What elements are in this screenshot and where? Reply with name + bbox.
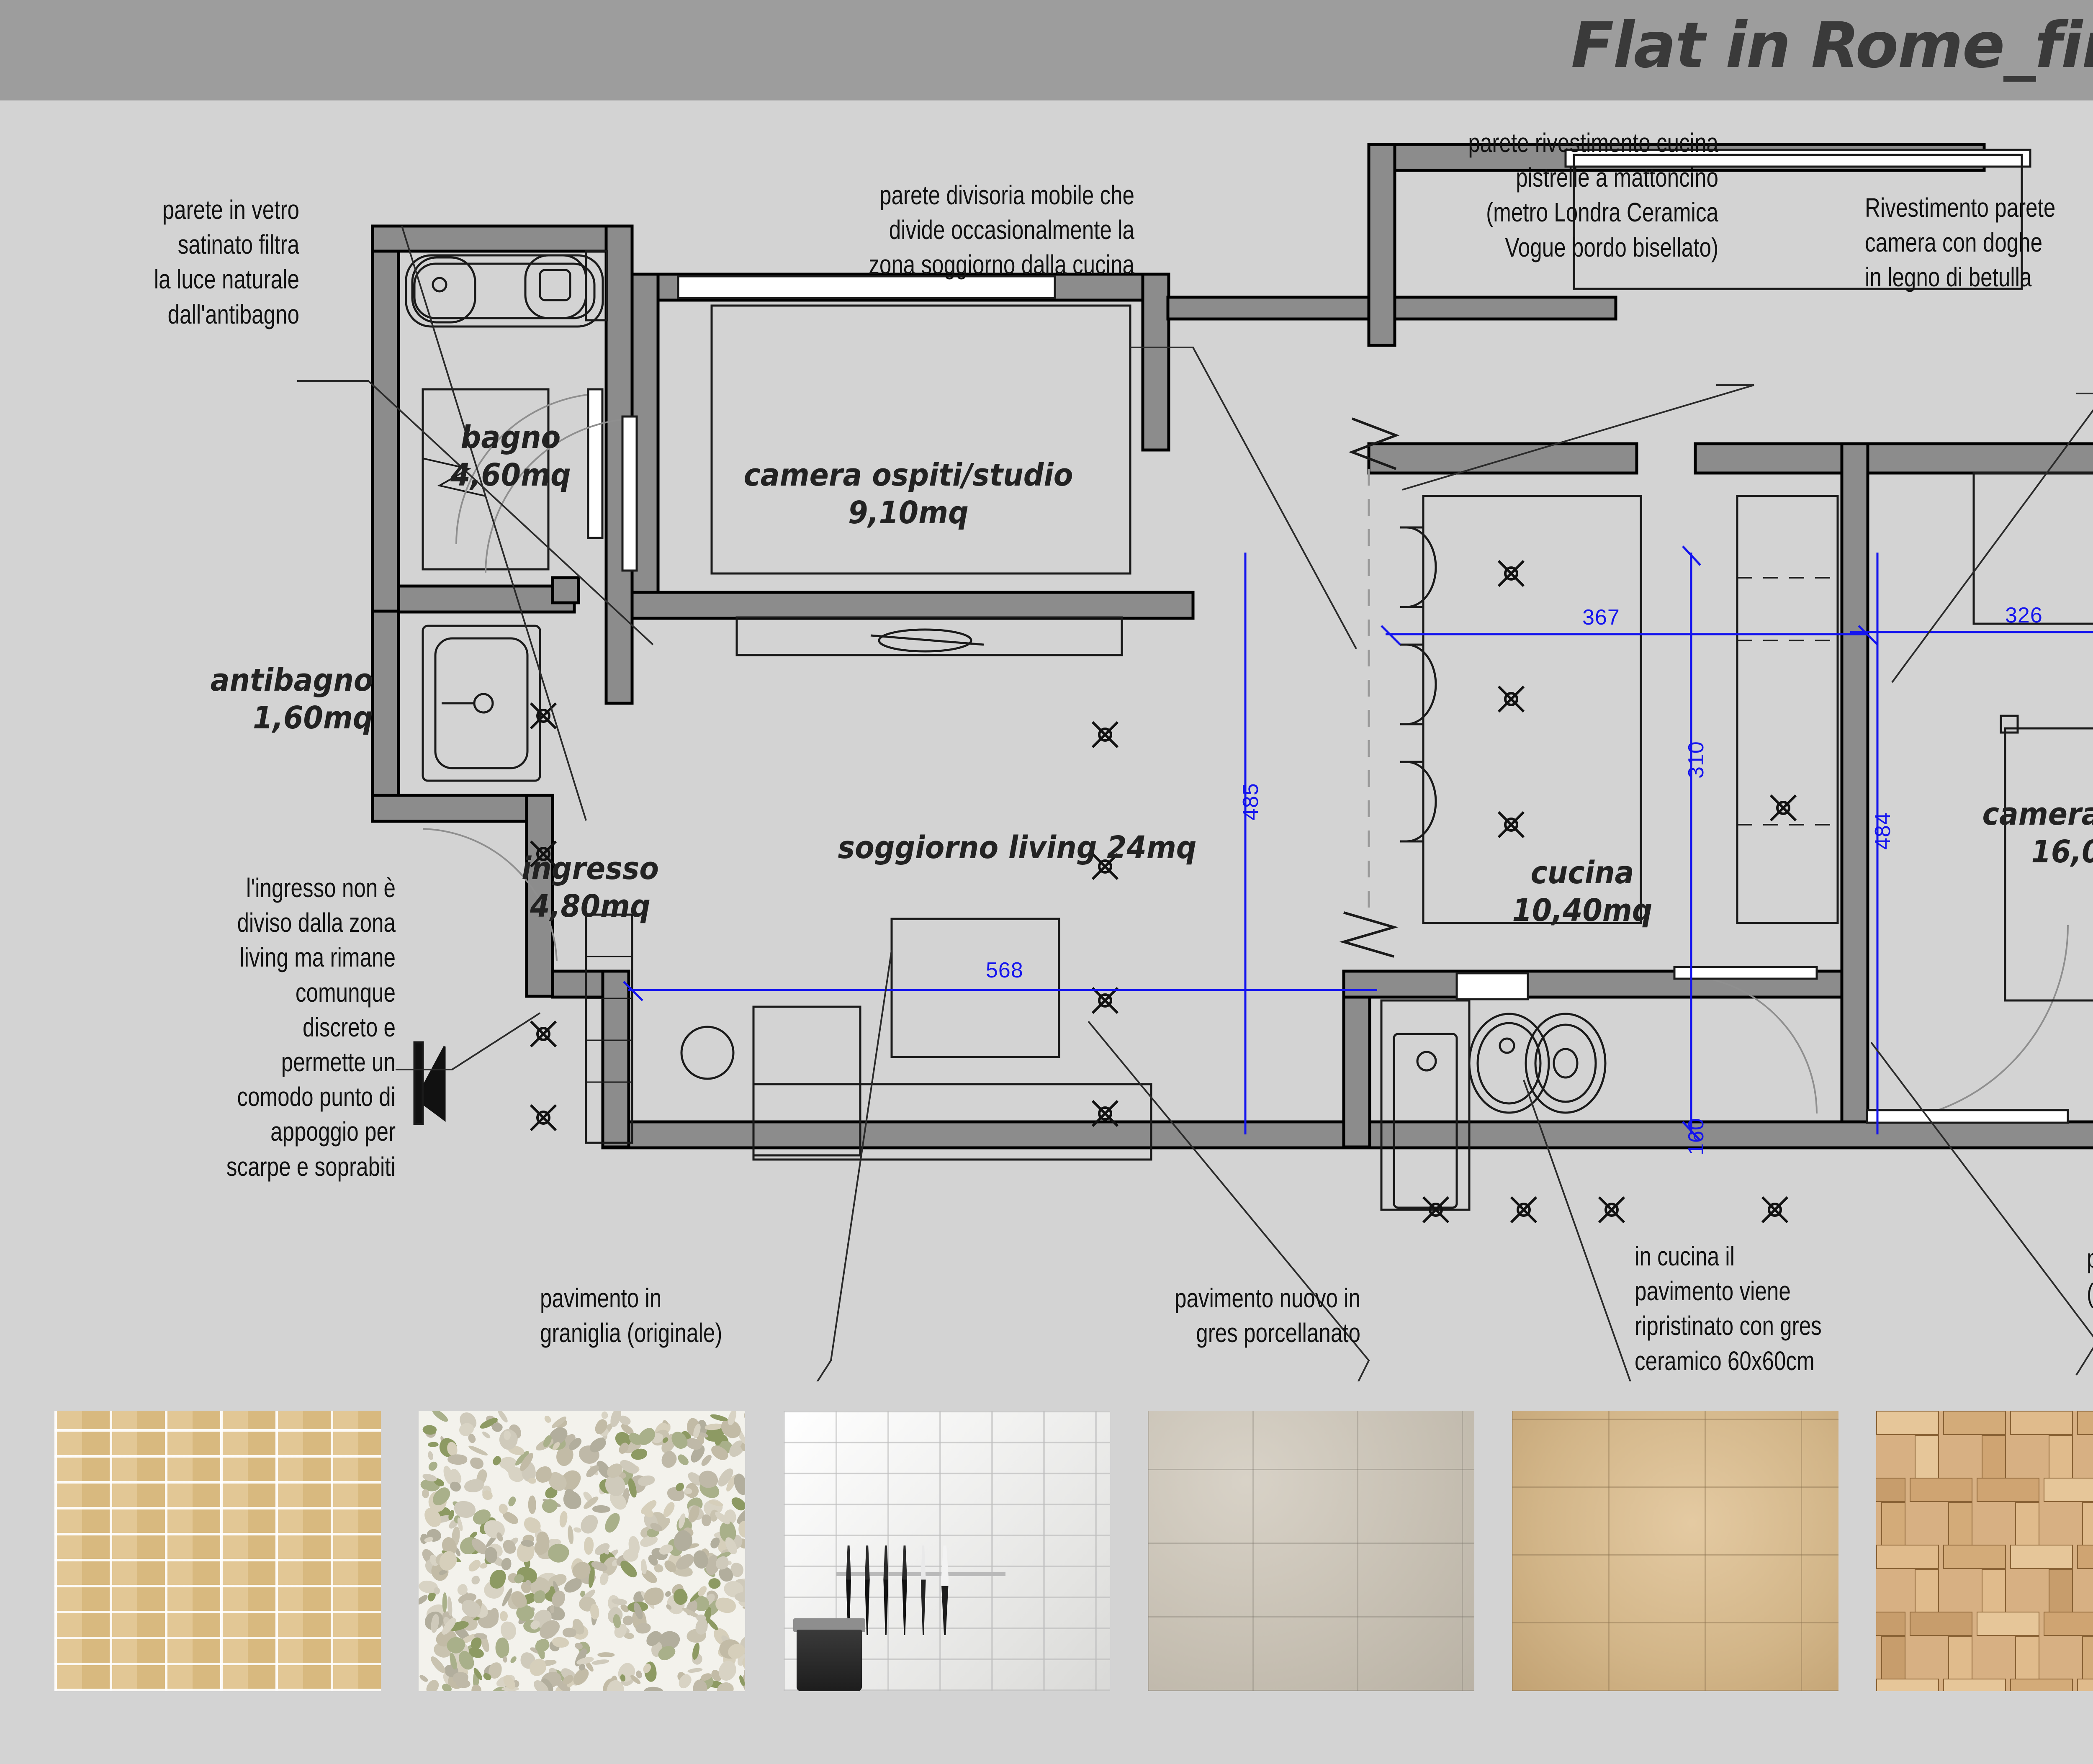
material-swatch-graniglia [419,1411,745,1691]
texture-mosaico-beige [54,1411,381,1691]
annotation-parete-divisoria-mobile: parete divisoria mobile che divide occas… [769,178,1134,283]
annotation-pavimento-legno-originale: pavimento in legno (originale) [2087,1241,2093,1311]
annotation-pavimento-cucina-gres: in cucina il pavimento viene ripristinat… [1635,1239,1970,1378]
material-swatch-gres-beige [1512,1411,1838,1691]
room-label-cucina: cucina 10,40mq [1444,854,1721,930]
dimension-484: 484 [1870,812,1895,850]
floor-plan-drawing [0,100,2093,1381]
room-label-bagno: bagno 4,60mq [399,419,622,494]
magnetic-knife-bar [836,1572,1006,1576]
material-swatch-piastrelle-metro [784,1411,1110,1691]
texture-gres-ceramico-beige [1512,1411,1838,1691]
dimension-485: 485 [1238,783,1263,820]
dimension-310: 310 [1684,741,1709,779]
texture-graniglia-terrazzo [419,1411,745,1691]
room-label-camera-ospiti: camera ospiti/studio 9,10mq [677,456,1139,532]
room-label-soggiorno: soggiorno living 24mq [802,829,1233,867]
page-title: Flat in Rome_finishing plan 01 [1571,9,2093,82]
texture-piastrelle-metro [784,1411,1110,1691]
dimension-160: 160 [1684,1118,1709,1155]
knife-5 [921,1545,926,1635]
material-swatch-mosaico-beige [54,1411,381,1691]
knife-3 [883,1545,888,1635]
room-label-ingresso: ingresso 4,80mq [471,850,710,926]
dimension-367: 367 [1582,605,1620,630]
annotation-parete-vetro-satinato: parete in vetro satinato filtra la luce … [60,193,299,332]
room-label-camera-doppia: camera doppia 16,00mq [1909,795,2093,871]
material-swatch-gres-grigio [1148,1411,1474,1691]
room-label-antibagno: antibagno 1,60mq [31,661,381,737]
annotation-pavimento-graniglia: pavimento in graniglia (originale) [540,1281,795,1350]
title-bar: Flat in Rome_finishing plan 01 [0,0,2093,100]
dimension-568: 568 [986,958,1023,983]
material-swatch-parquet-spina [1876,1411,2093,1691]
knife-4 [902,1545,907,1635]
cleaver [941,1545,949,1635]
knife-2 [865,1545,870,1635]
dimension-326: 326 [2005,603,2043,628]
annotation-pavimento-gres-porcellanato: pavimento nuovo in gres porcellanato [1032,1281,1360,1350]
annotation-ingresso-non-diviso: l'ingresso non è diviso dalla zona livin… [79,871,396,1184]
pot [797,1630,862,1691]
texture-parquet-spina [1876,1411,2093,1691]
annotation-parete-rivestimento-cucina: parete rivestimento cucina pistrelle a m… [1328,126,1718,265]
texture-gres-porcellanato-grigio [1148,1411,1474,1691]
plan-walls [297,144,2093,1381]
annotation-rivestimento-parete-camera: Rivestimento parete camera con doghe in … [1865,190,2093,295]
